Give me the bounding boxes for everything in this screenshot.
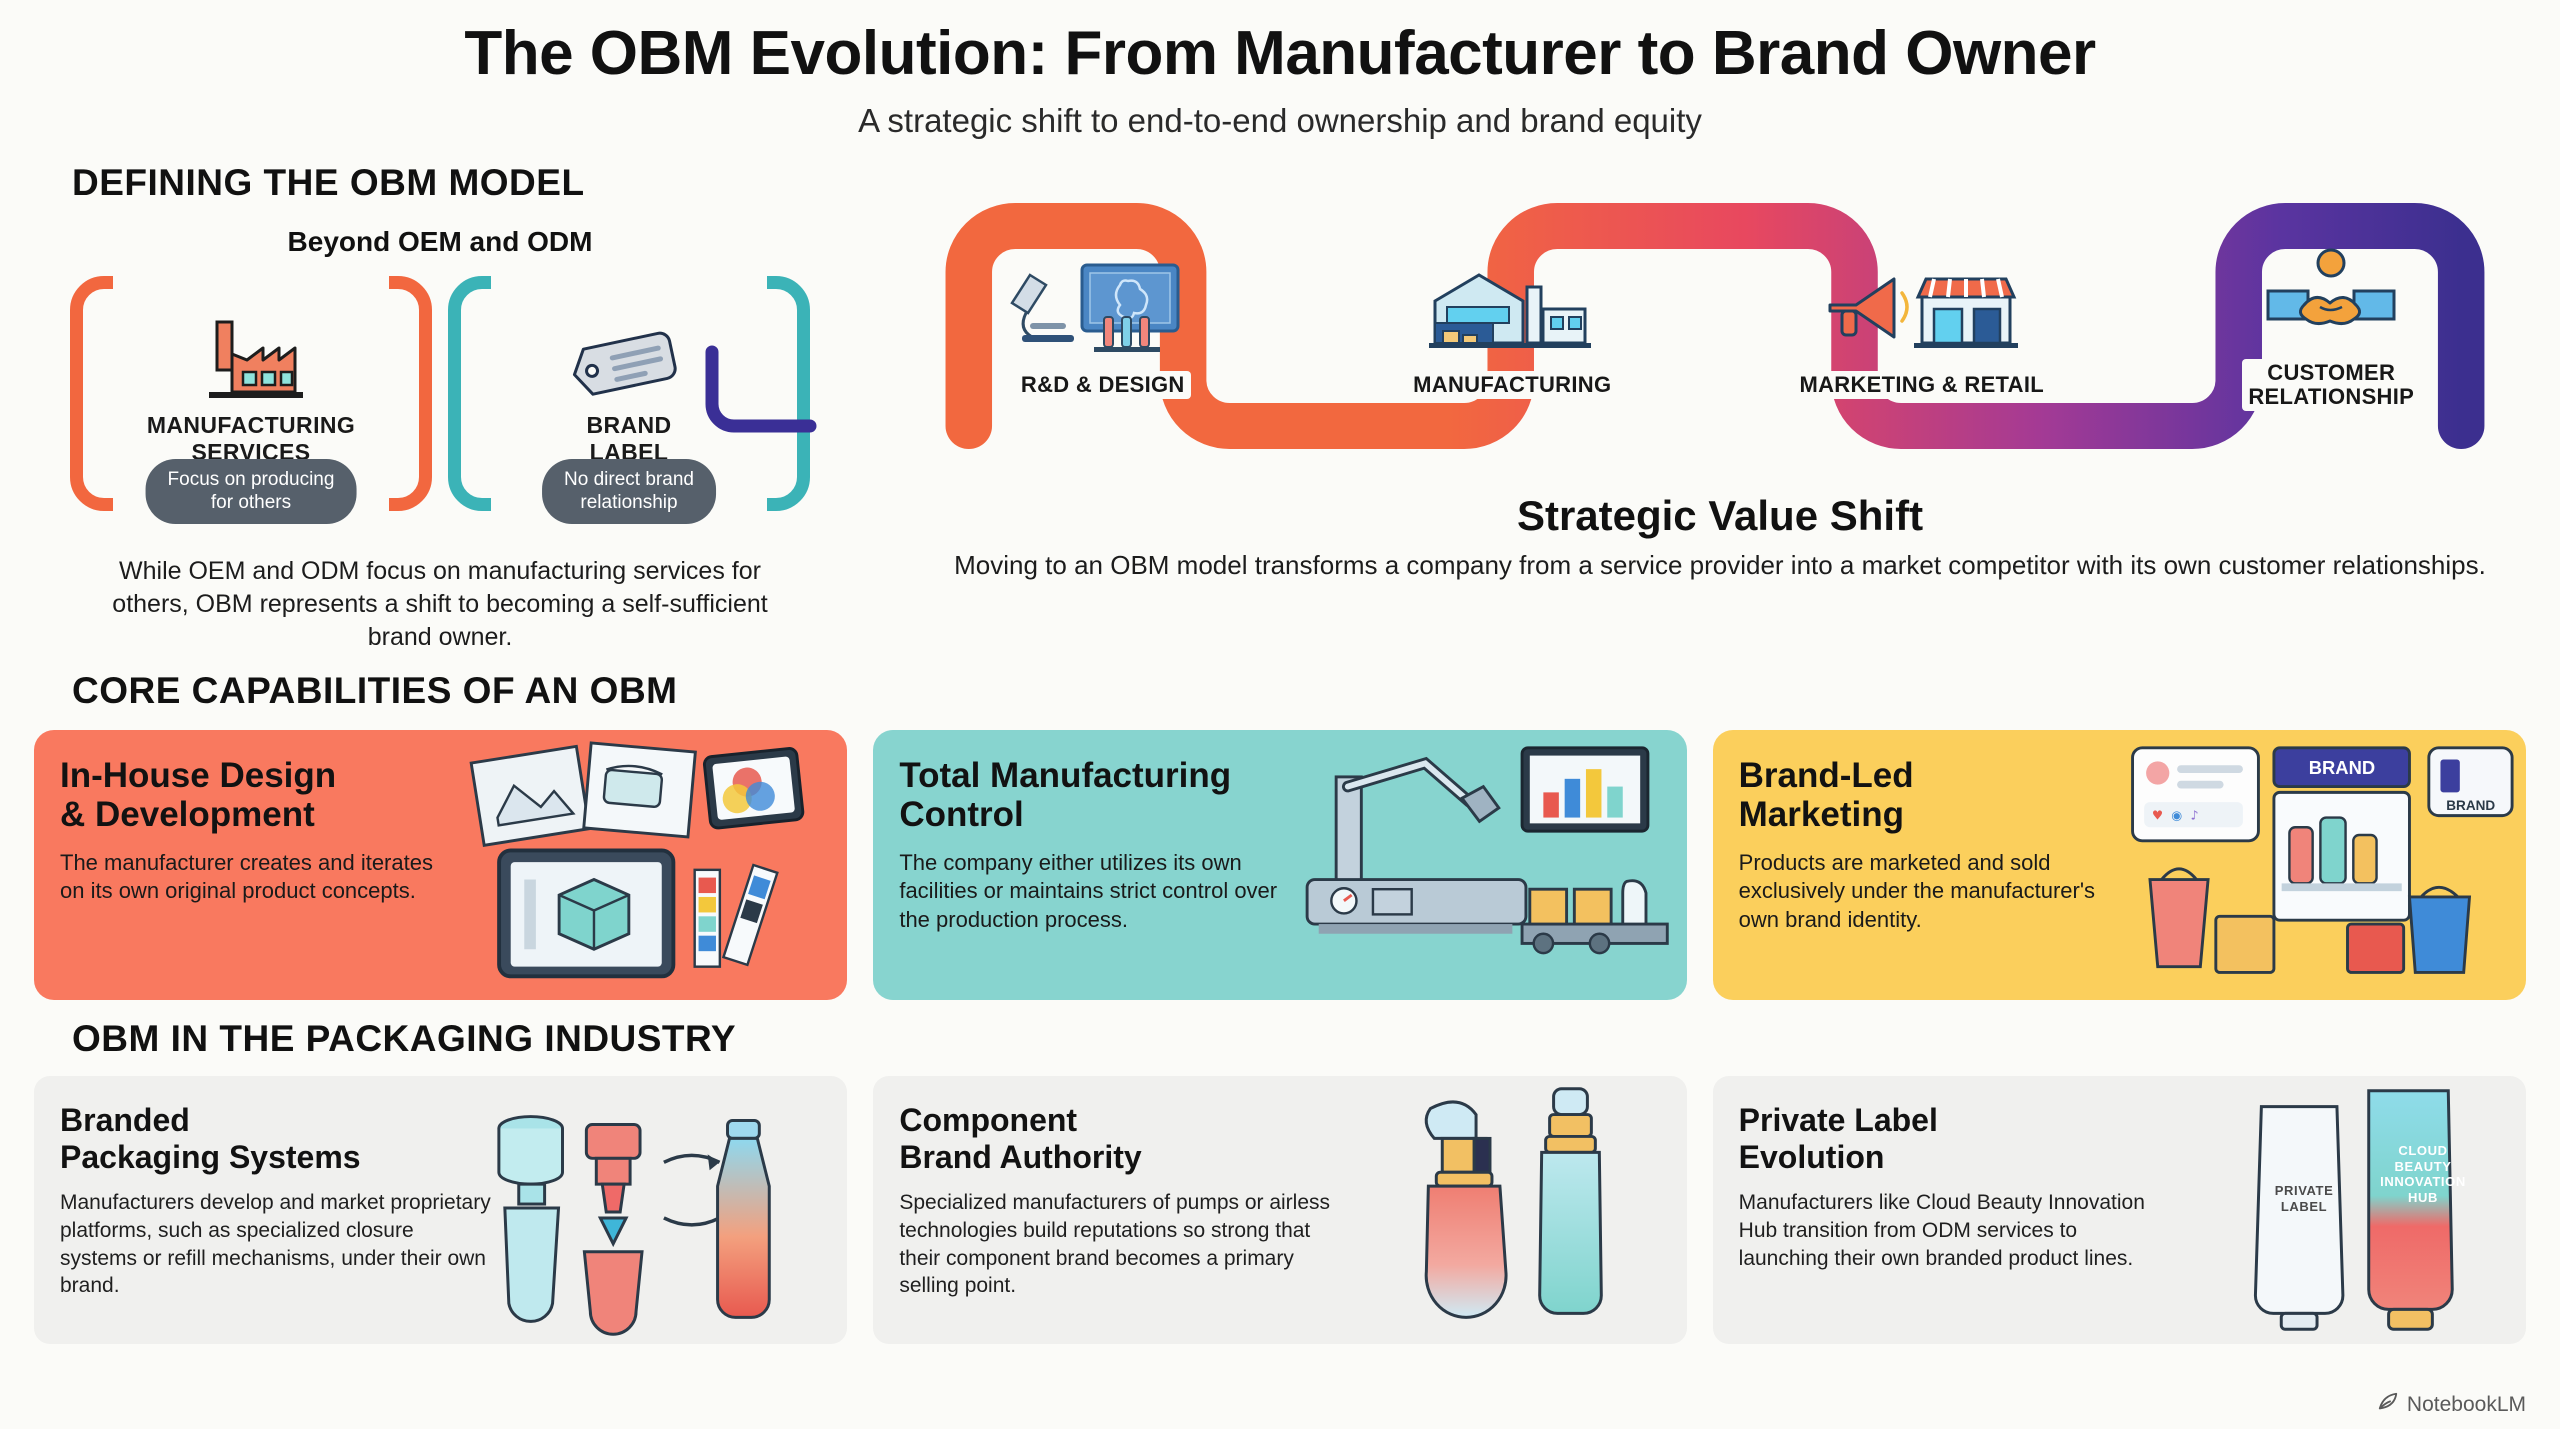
defining-obm-column: DEFINING THE OBM MODEL Beyond OEM and OD… (0, 162, 880, 654)
chain-node-marketing-retail: MARKETING & RETAIL (1717, 253, 2127, 399)
card-text: In-House Design& Development The manufac… (34, 730, 473, 1000)
packaging-title: ComponentBrand Authority (899, 1102, 1331, 1175)
chain-node-rnd-design: R&D & DESIGN (898, 253, 1308, 399)
capability-title: Total ManufacturingControl (899, 756, 1290, 834)
capability-title: Brand-LedMarketing (1739, 756, 2130, 834)
capability-title: In-House Design& Development (60, 756, 451, 834)
pill-no-direct-brand-relationship: No direct brandrelationship (542, 459, 716, 524)
bracket-content: MANUFACTURINGSERVICES (83, 301, 419, 465)
pill-focus-on-producing: Focus on producingfor others (146, 459, 357, 524)
capability-desc: The manufacturer creates and iterates on… (60, 849, 451, 906)
social-brand-shelf-icon: ♥ ◉ ♪ BRAND BRAND (2119, 730, 2526, 1000)
svg-text:BRAND: BRAND (2447, 798, 2496, 813)
top-row: DEFINING THE OBM MODEL Beyond OEM and OD… (0, 162, 2560, 654)
value-chain-nodes: R&D & DESIGN (898, 176, 2536, 476)
defining-subhead: Beyond OEM and ODM (0, 226, 880, 258)
megaphone-storefront-icon (1822, 253, 2022, 361)
packaging-card-component-brand-authority: ComponentBrand Authority Specialized man… (873, 1076, 1686, 1344)
card-text: Total ManufacturingControl The company e… (873, 730, 1312, 1000)
packaging-title: Private LabelEvolution (1739, 1102, 2171, 1175)
bracket-content: BRANDLABEL (461, 301, 797, 465)
card-text: BrandedPackaging Systems Manufacturers d… (34, 1076, 506, 1344)
capability-cards-row: In-House Design& Development The manufac… (0, 730, 2560, 1000)
capability-card-brand-led-marketing: Brand-LedMarketing Products are marketed… (1713, 730, 2526, 1000)
factory-warehouse-icon (1417, 253, 1607, 361)
value-chain-column: R&D & DESIGN (880, 162, 2560, 654)
label-text: MANUFACTURINGSERVICES (147, 412, 355, 464)
packaging-card-private-label-evolution: Private LabelEvolution Manufacturers lik… (1713, 1076, 2526, 1344)
section-heading-capabilities: CORE CAPABILITIES OF AN OBM (72, 670, 2560, 712)
page-title: The OBM Evolution: From Manufacturer to … (0, 0, 2560, 88)
handshake-icon (2246, 241, 2416, 349)
private-label-tubes-icon: PRIVATELABEL CLOUDBEAUTYINNOVATIONHUB (2158, 1076, 2516, 1344)
capability-desc: Products are marketed and sold exclusive… (1739, 849, 2130, 935)
svg-text:♥: ♥ (2152, 808, 2163, 823)
cloud-beauty-label-text: CLOUDBEAUTYINNOVATIONHUB (2380, 1143, 2466, 1205)
packaging-desc: Manufacturers develop and market proprie… (60, 1189, 492, 1300)
card-text: Brand-LedMarketing Products are marketed… (1713, 730, 2152, 1000)
pump-airless-bottles-icon (1319, 1076, 1677, 1344)
packaging-desc: Specialized manufacturers of pumps or ai… (899, 1189, 1331, 1300)
packaging-cards-row: BrandedPackaging Systems Manufacturers d… (0, 1076, 2560, 1344)
value-chain-ribbon: R&D & DESIGN (898, 176, 2536, 476)
packaging-desc: Manufacturers like Cloud Beauty Innovati… (1739, 1189, 2171, 1272)
watermark-text: NotebookLM (2407, 1393, 2526, 1417)
refill-closure-bottles-icon (479, 1076, 837, 1344)
pill-text: Focus on producingfor others (168, 469, 335, 512)
factory-icon (195, 301, 307, 406)
notebooklm-logo-icon (2377, 1391, 2399, 1419)
watermark: NotebookLM (2377, 1391, 2526, 1419)
microscope-blueprint-icon (1008, 253, 1198, 361)
node-label-manufacturing-services: MANUFACTURINGSERVICES (147, 412, 355, 465)
strategic-value-shift-title: Strategic Value Shift (880, 492, 2560, 540)
card-text: Private LabelEvolution Manufacturers lik… (1713, 1076, 2185, 1344)
pill-text: No direct brandrelationship (564, 469, 694, 512)
card-text: ComponentBrand Authority Specialized man… (873, 1076, 1345, 1344)
chain-label-manufacturing: MANUFACTURING (1407, 371, 1617, 399)
node-label-brand-label: BRANDLABEL (586, 412, 671, 465)
svg-text:◉: ◉ (2172, 808, 2183, 823)
packaging-title: BrandedPackaging Systems (60, 1102, 492, 1175)
defining-caption: While OEM and ODM focus on manufacturing… (80, 555, 800, 654)
strategic-value-shift-body: Moving to an OBM model transforms a comp… (880, 548, 2560, 583)
capability-card-total-manufacturing-control: Total ManufacturingControl The company e… (873, 730, 1686, 1000)
robot-arm-conveyor-icon (1280, 730, 1687, 1000)
svg-text:BRAND: BRAND (2309, 757, 2375, 778)
label-text: BRANDLABEL (586, 412, 671, 464)
manufacturing-services-bracket: MANUFACTURINGSERVICES Focus on producing… (70, 276, 432, 511)
infographic-root: The OBM Evolution: From Manufacturer to … (0, 0, 2560, 1429)
chain-node-manufacturing: MANUFACTURING (1308, 253, 1718, 399)
chain-label-rnd-design: R&D & DESIGN (1015, 371, 1191, 399)
packaging-card-branded-packaging-systems: BrandedPackaging Systems Manufacturers d… (34, 1076, 847, 1344)
svg-text:♪: ♪ (2191, 808, 2199, 823)
chain-label-customer-relationship: CUSTOMERRELATIONSHIP (2242, 359, 2420, 411)
section-heading-defining: DEFINING THE OBM MODEL (72, 162, 880, 204)
tag-label-icon (569, 301, 689, 406)
oem-odm-bracket-group: MANUFACTURINGSERVICES Focus on producing… (0, 276, 880, 511)
capability-card-in-house-design: In-House Design& Development The manufac… (34, 730, 847, 1000)
section-heading-packaging: OBM IN THE PACKAGING INDUSTRY (72, 1018, 2560, 1060)
chain-label-marketing-retail: MARKETING & RETAIL (1793, 371, 2050, 399)
chain-node-customer-relationship: CUSTOMERRELATIONSHIP (2127, 241, 2537, 411)
private-label-text: PRIVATELABEL (2269, 1183, 2339, 1214)
capability-desc: The company either utilizes its own faci… (899, 849, 1290, 935)
design-sketches-tablet-icon (441, 730, 848, 1000)
page-subtitle: A strategic shift to end-to-end ownershi… (0, 102, 2560, 140)
